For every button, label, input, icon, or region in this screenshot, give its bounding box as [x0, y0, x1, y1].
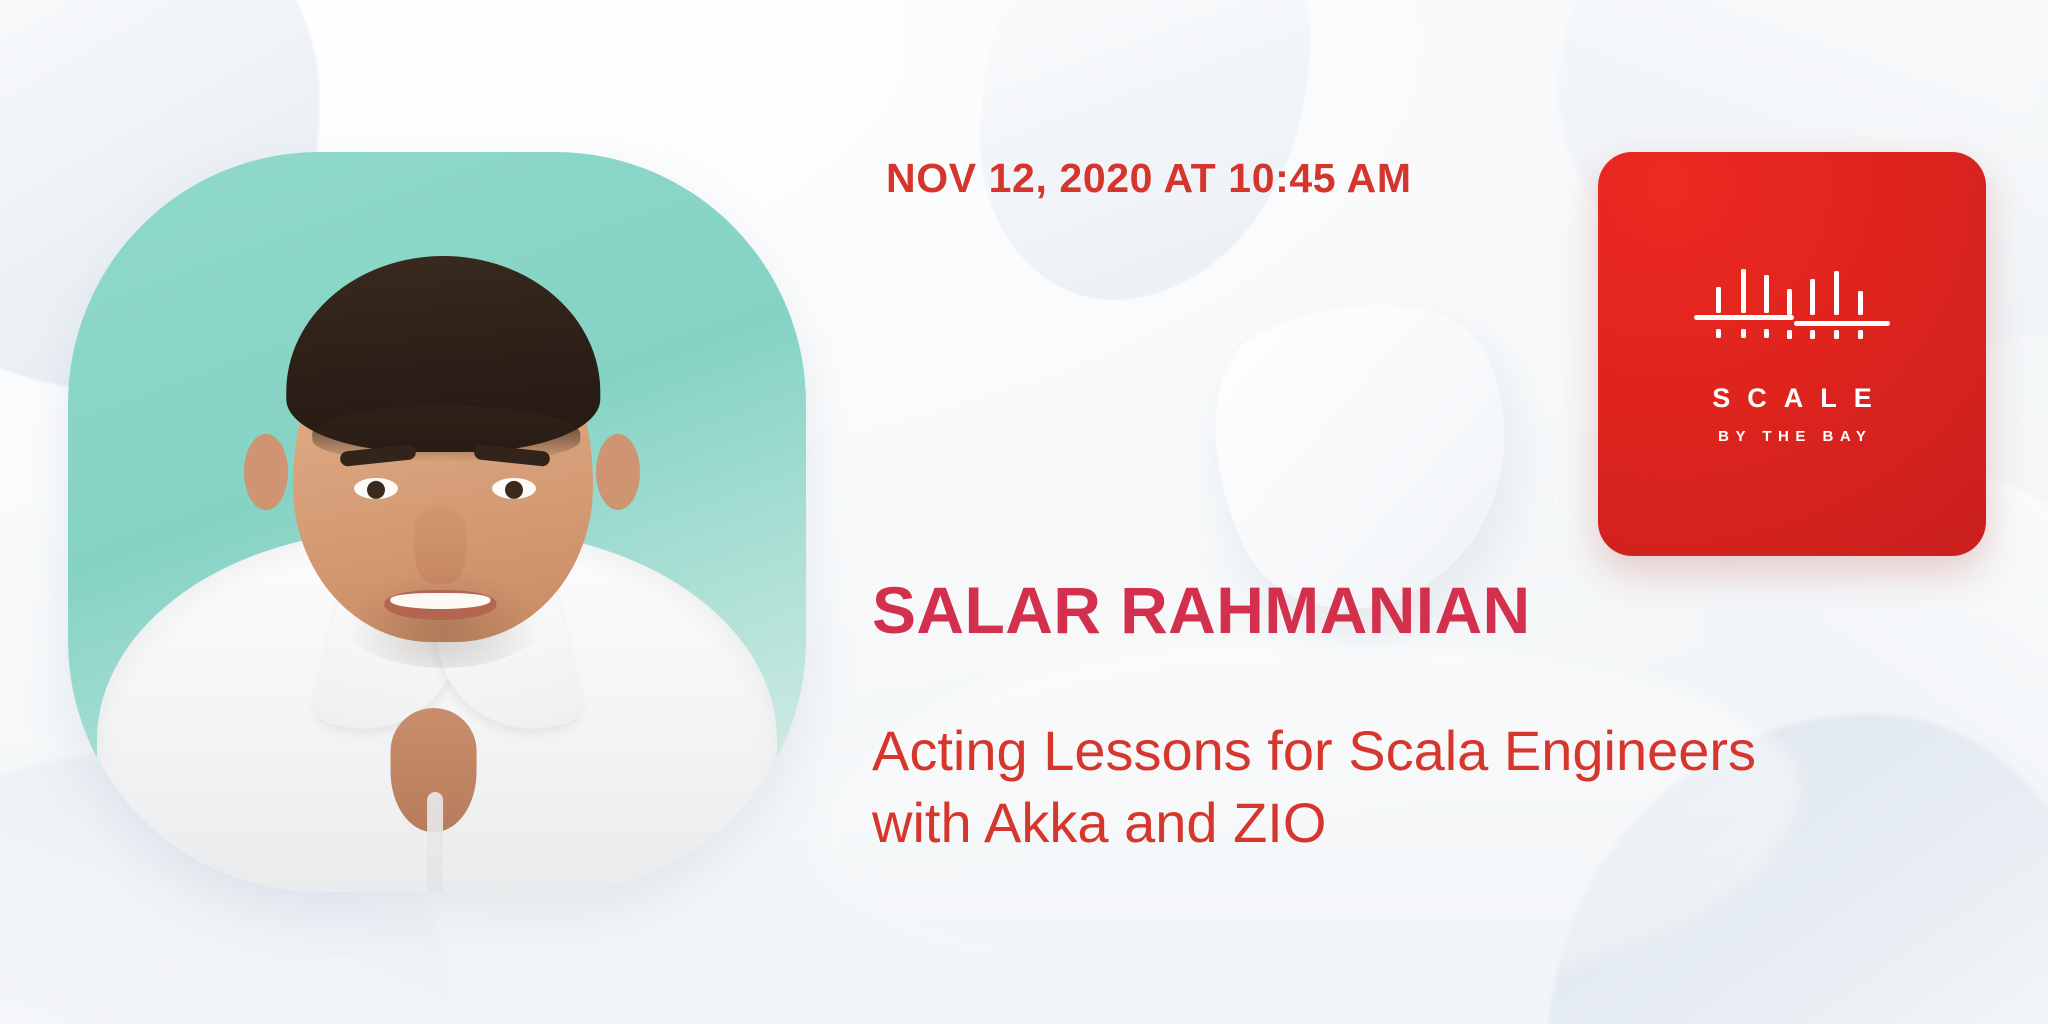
portrait-hair [286, 256, 600, 452]
logo-wordmark: SCALE [1695, 385, 1889, 412]
event-datetime: NOV 12, 2020 AT 10:45 AM [886, 155, 1412, 202]
portrait-mouth [384, 590, 496, 620]
portrait-eye-right [492, 478, 536, 499]
speaker-announcement-card: NOV 12, 2020 AT 10:45 AM SALAR RAHMANIAN… [0, 0, 2048, 1024]
scale-by-the-bay-logo-tile: SCALE BY THE BAY [1598, 152, 1986, 556]
bay-bridge-mark-icon [1694, 265, 1890, 339]
speaker-photo [68, 152, 806, 892]
portrait-illustration [68, 152, 806, 892]
speaker-name: SALAR RAHMANIAN [872, 572, 1531, 648]
portrait-ear-right [596, 434, 640, 510]
talk-title-line-1: Acting Lessons for Scala Engineers [872, 715, 1982, 787]
background-blob-top-center [980, 0, 1310, 300]
talk-title: Acting Lessons for Scala Engineers with … [872, 715, 1982, 858]
portrait-nose [414, 504, 466, 584]
portrait-ear-left [244, 434, 288, 510]
talk-title-line-2: with Akka and ZIO [872, 787, 1982, 859]
portrait-shirt-placket [427, 792, 443, 892]
logo-tagline: BY THE BAY [1712, 429, 1873, 444]
portrait-eye-left [354, 478, 398, 499]
